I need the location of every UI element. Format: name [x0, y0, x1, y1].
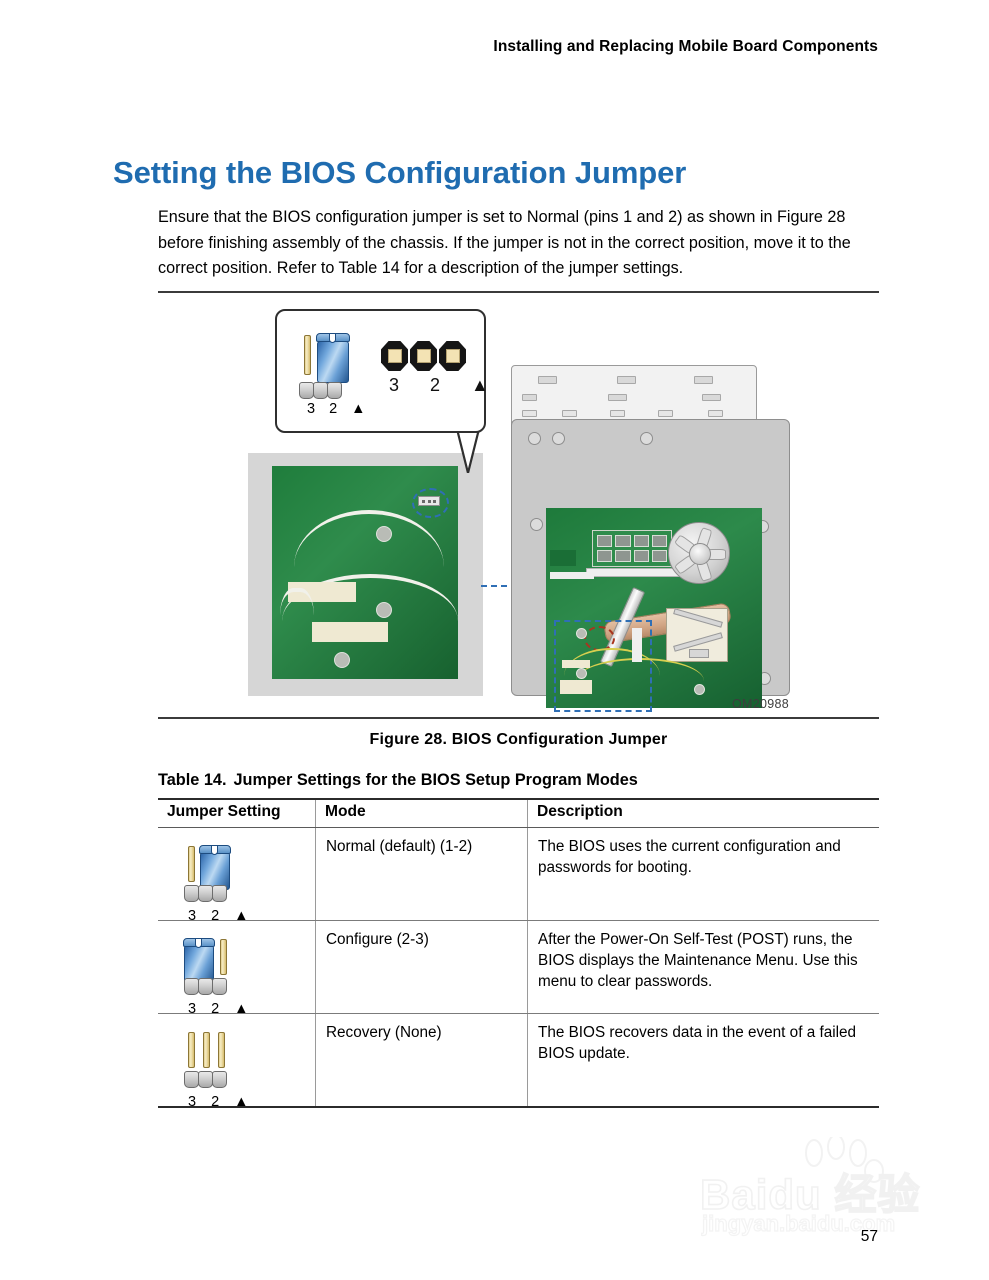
- table-row: 3 2 ▲ Recovery (None) The BIOS recovers …: [158, 1014, 879, 1108]
- detail-pcb: [272, 466, 458, 679]
- callout-jumper-side-icon: [299, 327, 363, 399]
- jumper-recovery-icon: [184, 1026, 242, 1088]
- table-title-text: Jumper Settings for the BIOS Setup Progr…: [233, 771, 637, 789]
- artwork-id-label: OM20988: [732, 697, 789, 711]
- figure-artwork: 3 2 ▲ 3 2 ▲: [158, 293, 879, 717]
- callout-pin-pads-icon: [381, 341, 466, 371]
- baidu-watermark: Baidu 经验 jingyan.baidu.com: [690, 1135, 960, 1245]
- jumper-header-detail-icon: [418, 496, 440, 506]
- callout-pad-labels: 3 2 ▲: [389, 375, 502, 396]
- page-number: 57: [861, 1228, 878, 1246]
- column-header-mode: Mode: [316, 799, 528, 828]
- cooling-fan: [668, 522, 730, 584]
- motherboard: [546, 508, 762, 708]
- table-title: Table 14.Jumper Settings for the BIOS Se…: [158, 771, 638, 790]
- jumper-configure-icon: [184, 933, 242, 995]
- jumper-callout-balloon: 3 2 ▲ 3 2 ▲: [275, 309, 486, 433]
- mode-cell: Normal (default) (1-2): [316, 828, 528, 921]
- table-number: Table 14.: [158, 771, 226, 789]
- jumper-icon-caption: 3 2 ▲: [188, 1092, 254, 1113]
- document-page: Installing and Replacing Mobile Board Co…: [0, 0, 989, 1280]
- mode-cell: Recovery (None): [316, 1014, 528, 1108]
- running-header: Installing and Replacing Mobile Board Co…: [493, 38, 878, 56]
- paw-icon: [798, 1137, 888, 1197]
- jumper-icon-cell: 3 2 ▲: [158, 828, 316, 921]
- memory-module: [592, 530, 672, 567]
- jumper-settings-table: Jumper Setting Mode Description: [158, 798, 879, 1108]
- chassis-lid: [511, 365, 757, 427]
- intro-paragraph: Ensure that the BIOS configuration jumpe…: [158, 205, 880, 282]
- description-cell: The BIOS uses the current configuration …: [528, 828, 880, 921]
- figure-caption: Figure 28. BIOS Configuration Jumper: [158, 719, 879, 749]
- heatsink: [666, 608, 728, 662]
- mode-cell: Configure (2-3): [316, 921, 528, 1014]
- description-cell: The BIOS recovers data in the event of a…: [528, 1014, 880, 1108]
- table-row: 3 2 ▲ Normal (default) (1-2) The BIOS us…: [158, 828, 879, 921]
- table-row: 3 2 ▲ Configure (2-3) After the Power-On…: [158, 921, 879, 1014]
- chassis-body: [511, 419, 790, 696]
- chassis-view: [505, 363, 800, 699]
- description-cell: After the Power-On Self-Test (POST) runs…: [528, 921, 880, 1014]
- jumper-icon-cell: 3 2 ▲: [158, 1014, 316, 1108]
- jumper-normal-icon: [184, 840, 242, 902]
- memory-socket: [586, 568, 680, 577]
- table-header-row: Jumper Setting Mode Description: [158, 799, 879, 828]
- column-header-jumper-setting: Jumper Setting: [158, 799, 316, 828]
- watermark-brand: Baidu 经验: [700, 1161, 920, 1222]
- board-detail-view: [248, 453, 483, 696]
- jumper-icon-cell: 3 2 ▲: [158, 921, 316, 1014]
- column-header-description: Description: [528, 799, 880, 828]
- callout-jumper-pin-labels: 3 2 ▲: [307, 401, 371, 417]
- figure-block: 3 2 ▲ 3 2 ▲: [158, 291, 879, 749]
- page-title: Setting the BIOS Configuration Jumper: [113, 155, 686, 191]
